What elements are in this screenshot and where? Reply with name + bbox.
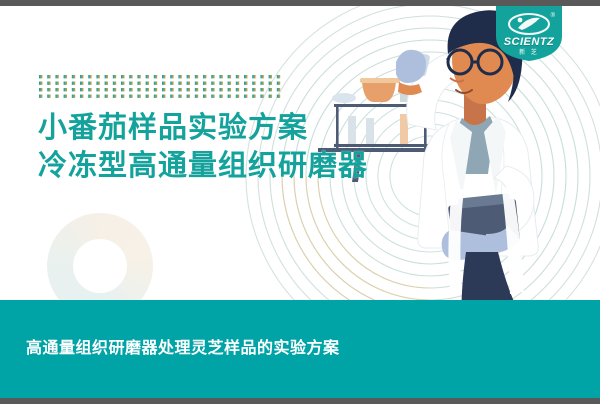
headline-line-1: 小番茄样品实验方案 (38, 109, 368, 147)
dot-grid-decoration (39, 75, 285, 101)
logo-sub-text: 新 芝 (496, 47, 562, 56)
scientz-logo[interactable]: ® SCIENTZ 新 芝 (496, 6, 562, 61)
window-top-bar (0, 0, 600, 6)
banner-caption: 高通量组织研磨器处理灵芝样品的实验方案 (26, 334, 340, 358)
bottom-banner: 高通量组织研磨器处理灵芝样品的实验方案 (0, 300, 600, 398)
page-title: 小番茄样品实验方案 冷冻型高通量组织研磨器 (38, 109, 368, 185)
registered-mark: ® (551, 13, 555, 19)
poster-canvas: 小番茄样品实验方案 冷冻型高通量组织研磨器 ® SCIENTZ 新 芝 高通量组… (0, 0, 600, 404)
window-bottom-bar (0, 398, 600, 404)
poster-content: 小番茄样品实验方案 冷冻型高通量组织研磨器 ® SCIENTZ 新 芝 高通量组… (0, 6, 600, 398)
headline-line-2: 冷冻型高通量组织研磨器 (38, 147, 368, 185)
